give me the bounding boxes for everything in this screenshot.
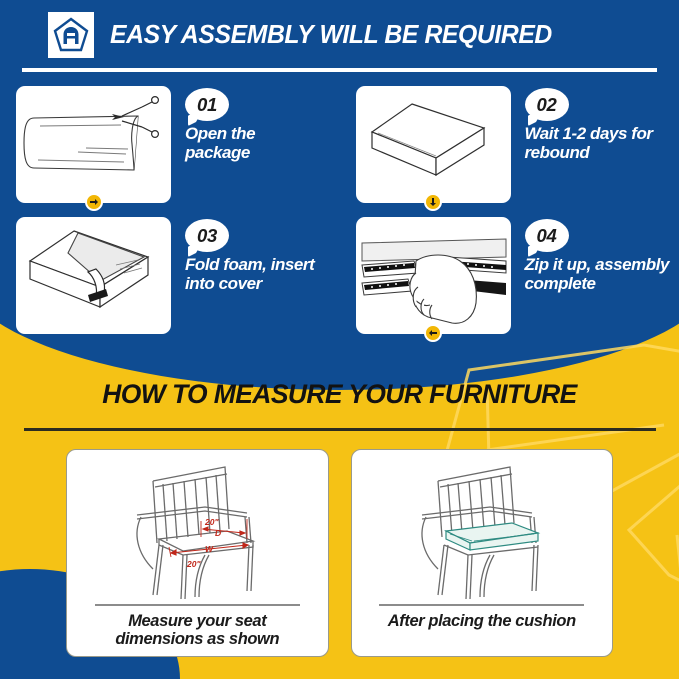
chair-with-cushion-icon bbox=[382, 456, 582, 604]
assembly-step-04-text: 04 Zip it up, assembly complete bbox=[525, 217, 679, 293]
dimension-label-depth-axis: D bbox=[215, 528, 221, 538]
flat-foam-cushion-icon bbox=[356, 86, 511, 203]
header-divider bbox=[22, 68, 657, 72]
assembly-step-03-text: 03 Fold foam, insert into cover bbox=[185, 217, 340, 293]
assembly-step-02: 02 Wait 1-2 days for rebound bbox=[340, 86, 679, 203]
step-number-badge: 04 bbox=[525, 219, 569, 252]
assembly-section: EASY ASSEMBLY WILL BE REQUIRED bbox=[0, 0, 679, 400]
panel-divider bbox=[95, 604, 300, 606]
step-label: Open the package bbox=[185, 125, 340, 162]
measure-title-divider bbox=[24, 428, 656, 431]
dimension-label-width-axis: W bbox=[205, 544, 214, 554]
assembly-step-04: 04 Zip it up, assembly complete bbox=[340, 217, 679, 334]
arrow-down-icon bbox=[424, 193, 442, 211]
assembly-header: EASY ASSEMBLY WILL BE REQUIRED bbox=[48, 12, 566, 58]
panel-caption: After placing the cushion bbox=[388, 612, 576, 630]
page-title: EASY ASSEMBLY WILL BE REQUIRED bbox=[110, 21, 552, 50]
dimension-label-width-value: 20" bbox=[186, 559, 201, 569]
step-label: Wait 1-2 days for rebound bbox=[525, 125, 679, 162]
dimension-label-depth-value: 20" bbox=[204, 517, 219, 527]
infographic-page: EASY ASSEMBLY WILL BE REQUIRED bbox=[0, 0, 679, 679]
arrow-right-icon bbox=[85, 193, 103, 211]
panel-divider bbox=[379, 604, 584, 606]
assembly-step-02-text: 02 Wait 1-2 days for rebound bbox=[525, 86, 679, 162]
measure-panel-cushion: After placing the cushion bbox=[351, 449, 614, 657]
folding-foam-into-cover-icon bbox=[16, 217, 171, 334]
measure-section-title: HOW TO MEASURE YOUR FURNITURE bbox=[7, 379, 672, 410]
step-label: Fold foam, insert into cover bbox=[185, 256, 340, 293]
assembly-steps-grid: 01 Open the package bbox=[0, 86, 679, 334]
panel-caption: Measure your seat dimensions as shown bbox=[115, 612, 279, 649]
step-label: Zip it up, assembly complete bbox=[525, 256, 679, 293]
arrow-left-icon bbox=[424, 324, 442, 342]
hand-zipping-cover-icon bbox=[356, 217, 511, 334]
assembly-step-01: 01 Open the package bbox=[0, 86, 340, 203]
house-pentagon-icon bbox=[48, 12, 94, 58]
assembly-step-03: 03 Fold foam, insert into cover bbox=[0, 217, 340, 334]
assembly-step-01-text: 01 Open the package bbox=[185, 86, 340, 162]
measure-panel-dimensions: 20" D W 20" Measure your seat dimensions… bbox=[66, 449, 329, 657]
measure-panels: 20" D W 20" Measure your seat dimensions… bbox=[0, 449, 679, 657]
rolled-package-with-scissors-icon bbox=[16, 86, 171, 203]
chair-with-measurements-icon: 20" D W 20" bbox=[97, 456, 297, 604]
step-number-badge: 02 bbox=[525, 88, 569, 121]
step-number-badge: 01 bbox=[185, 88, 229, 121]
step-number-badge: 03 bbox=[185, 219, 229, 252]
